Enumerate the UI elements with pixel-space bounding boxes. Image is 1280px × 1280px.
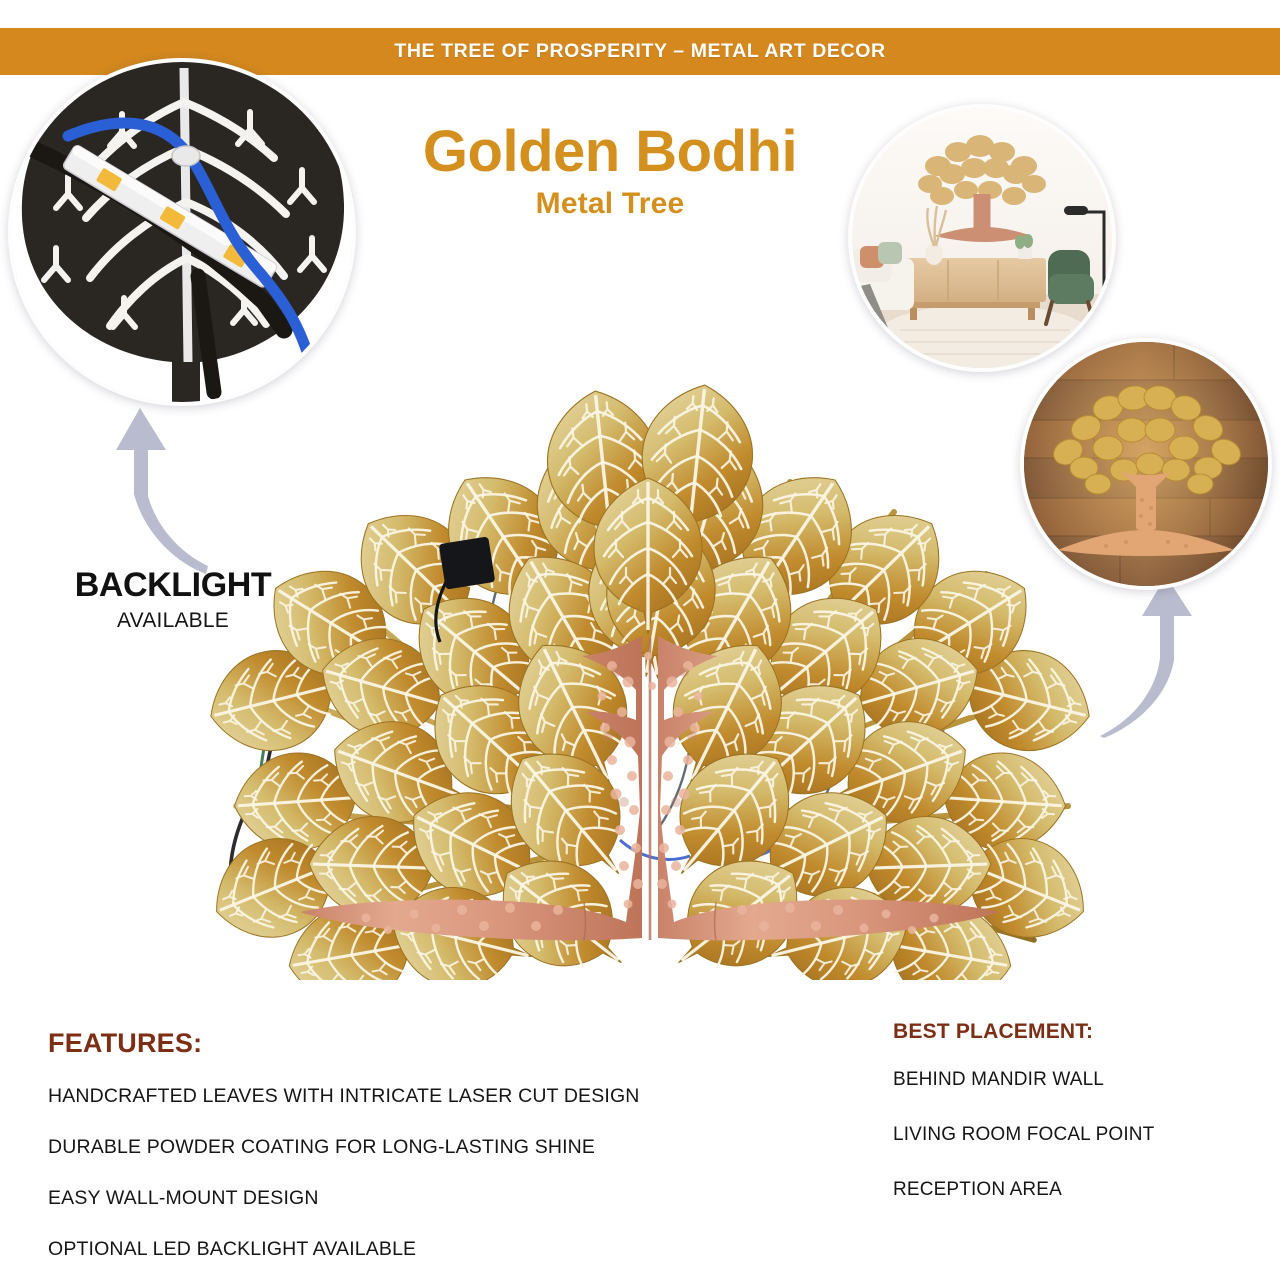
feature-item: HANDCRAFTED LEAVES WITH INTRICATE LASER … <box>48 1085 748 1108</box>
product-title-block: Golden Bodhi Metal Tree <box>330 122 890 220</box>
product-subtitle: Metal Tree <box>330 187 890 220</box>
placement-item: BEHIND MANDIR WALL <box>893 1069 1253 1091</box>
placement-heading: BEST PLACEMENT: <box>893 1020 1253 1044</box>
placement-item: LIVING ROOM FOCAL POINT <box>893 1124 1253 1146</box>
product-title: Golden Bodhi <box>330 122 890 181</box>
feature-item: EASY WALL-MOUNT DESIGN <box>48 1187 748 1210</box>
feature-item: OPTIONAL LED BACKLIGHT AVAILABLE <box>48 1238 748 1261</box>
infographic-page: THE TREE OF PROSPERITY – METAL ART DECOR… <box>0 0 1280 1280</box>
feature-item: DURABLE POWDER COATING FOR LONG-LASTING … <box>48 1136 748 1159</box>
features-section: FEATURES: HANDCRAFTED LEAVES WITH INTRIC… <box>48 1028 748 1280</box>
placement-item: RECEPTION AREA <box>893 1179 1253 1201</box>
product-image-main-tree <box>150 250 1150 980</box>
features-heading: FEATURES: <box>48 1028 748 1059</box>
placement-section: BEST PLACEMENT: BEHIND MANDIR WALL LIVIN… <box>893 1020 1253 1234</box>
metal-tree-art <box>150 250 1150 980</box>
banner-title: THE TREE OF PROSPERITY – METAL ART DECOR <box>394 40 885 63</box>
